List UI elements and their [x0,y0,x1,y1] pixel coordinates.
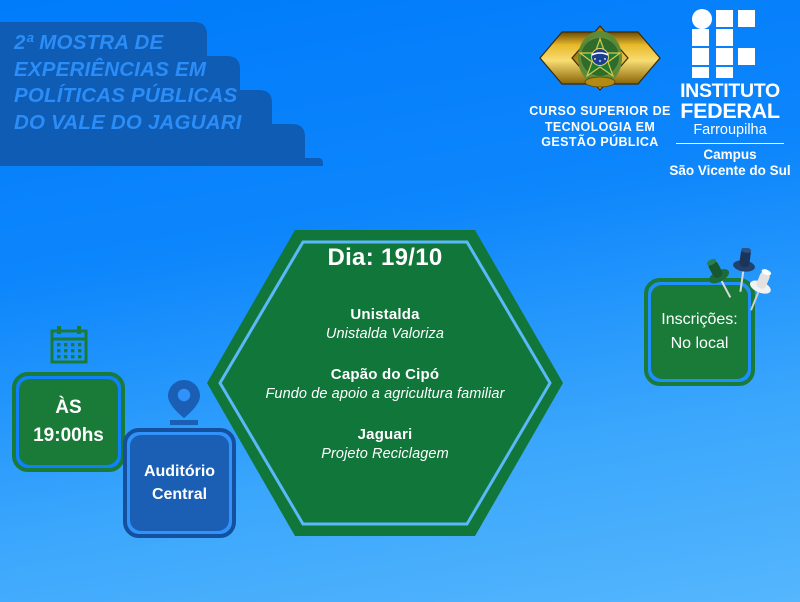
banner-line-3: POLÍTICAS PÚBLICAS [14,83,314,110]
time-label: ÀS [55,394,81,422]
institute-logo: INSTITUTO FEDERAL Farroupilha Campus São… [660,8,800,178]
institute-name-line-2: FEDERAL [660,101,800,121]
calendar-icon [45,322,93,370]
entry-city: Capão do Cipó [265,366,504,383]
institute-divider [676,143,784,145]
time-value: 19:00hs [33,422,104,450]
institute-name-line-1: INSTITUTO [660,82,800,101]
venue-box: Auditório Central [123,428,236,538]
banner-line-2: EXPERIÊNCIAS EM [14,57,314,84]
if-grid-logo-icon [689,8,771,78]
banner-title-text: 2ª MOSTRA DE EXPERIÊNCIAS EM POLÍTICAS P… [14,30,314,137]
institute-campus-label: Campus [660,147,800,163]
venue-line-1: Auditório [144,460,215,483]
brazil-coat-of-arms-emblem-icon [536,18,664,98]
entry-city: Jaguari [321,426,449,443]
institute-campus-name: São Vicente do Sul [660,163,800,179]
banner-line-1: 2ª MOSTRA DE [14,30,314,57]
entry-project: Projeto Reciclagem [321,446,449,462]
entry-project: Unistalda Valoriza [326,326,444,342]
entry-city: Unistalda [326,306,444,323]
event-poster: 2ª MOSTRA DE EXPERIÊNCIAS EM POLÍTICAS P… [0,0,800,602]
schedule-entry: Unistalda Unistalda Valoriza [326,306,444,342]
entry-project: Fundo de apoio a agricultura familiar [265,386,504,402]
registration-value: No local [671,332,729,356]
venue-box-inner: Auditório Central [130,435,229,531]
time-box: ÀS 19:00hs [12,372,125,472]
institute-name-line-3: Farroupilha [660,122,800,139]
schedule-entry: Capão do Cipó Fundo de apoio a agricultu… [265,366,504,402]
pushpins-icon [700,248,778,320]
banner-line-4: DO VALE DO JAGUARI [14,110,314,137]
hexagon-content: Dia: 19/10 Unistalda Unistalda Valoriza … [205,228,565,538]
schedule-entry: Jaguari Projeto Reciclagem [321,426,449,462]
hexagon-title: Dia: 19/10 [327,244,442,272]
schedule-hexagon: Dia: 19/10 Unistalda Unistalda Valoriza … [205,228,565,538]
time-box-inner: ÀS 19:00hs [19,379,118,465]
map-pin-icon [164,378,204,426]
title-banner: 2ª MOSTRA DE EXPERIÊNCIAS EM POLÍTICAS P… [0,18,330,163]
venue-line-2: Central [152,483,207,506]
